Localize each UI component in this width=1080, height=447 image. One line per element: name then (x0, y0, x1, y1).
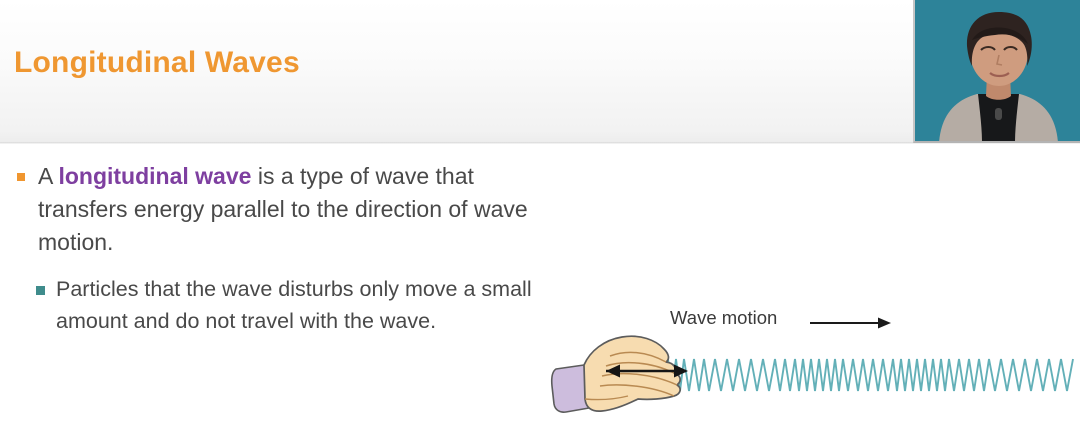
wave-figure-graphic (548, 296, 1080, 436)
bullet-keyword: longitudinal wave (58, 163, 251, 189)
spring-zigzag (660, 359, 1073, 391)
wave-motion-label: Wave motion (670, 307, 777, 329)
slide-canvas: Longitudinal Waves A longitudinal wave i… (0, 0, 1080, 447)
longitudinal-wave-figure: Wave motion (548, 296, 1080, 436)
presenter-video-overlay[interactable] (913, 0, 1080, 143)
bullet-text-primary: A longitudinal wave is a type of wave th… (38, 163, 528, 255)
bullet-marker-square-orange (17, 173, 25, 181)
lapel-microphone (995, 108, 1002, 120)
list-item: Particles that the wave disturbs only mo… (0, 273, 560, 337)
presenter-figure (915, 0, 1080, 143)
bullet-list: A longitudinal wave is a type of wave th… (0, 160, 560, 337)
bullet-text-secondary: Particles that the wave disturbs only mo… (56, 277, 532, 333)
wave-motion-arrow-icon (810, 318, 891, 329)
page-title: Longitudinal Waves (14, 46, 300, 80)
bullet-marker-square-teal (36, 286, 45, 295)
list-item: A longitudinal wave is a type of wave th… (0, 160, 560, 259)
bullet-text-before: A (38, 163, 58, 189)
